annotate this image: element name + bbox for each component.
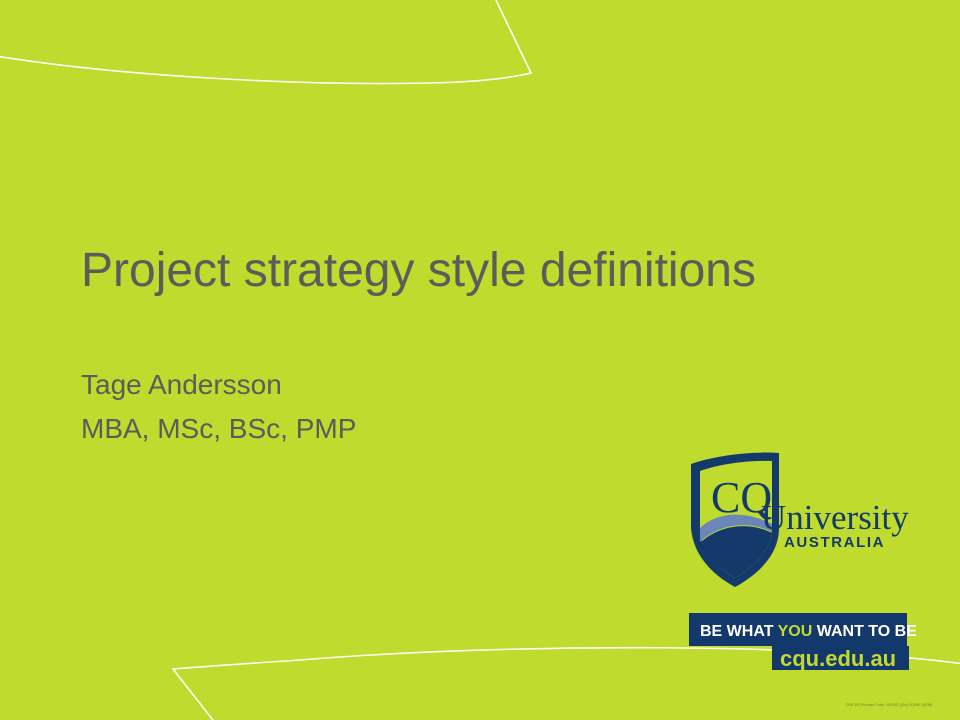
cquniversity-logo: CQ University AUSTRALIA <box>683 450 923 595</box>
author-name: Tage Andersson <box>81 363 781 407</box>
footer-fine-print: CRICOS Provider Code: 00219C (Qld) 01315… <box>846 703 932 707</box>
logo-wordmark-sub: AUSTRALIA <box>784 534 885 551</box>
banner-line1: BE WHAT YOU WANT TO BE <box>700 623 916 640</box>
page-title: Project strategy style definitions <box>81 243 881 300</box>
cqu-tagline-banner: BE WHAT YOU WANT TO BE cqu.edu.au <box>686 610 916 672</box>
banner-line1-part2: WANT TO BE <box>812 623 916 640</box>
banner-line2: cqu.edu.au <box>780 646 896 671</box>
banner-line1-part1: BE WHAT <box>700 623 778 640</box>
logo-wordmark: University <box>761 498 909 537</box>
top-swoosh-icon <box>0 0 531 84</box>
title-block: Project strategy style definitions <box>81 243 881 300</box>
presentation-slide: Project strategy style definitions Tage … <box>0 0 960 720</box>
subtitle-block: Tage Andersson MBA, MSc, BSc, PMP <box>81 363 781 451</box>
author-credentials: MBA, MSc, BSc, PMP <box>81 407 781 451</box>
banner-line1-highlight: YOU <box>778 623 813 640</box>
